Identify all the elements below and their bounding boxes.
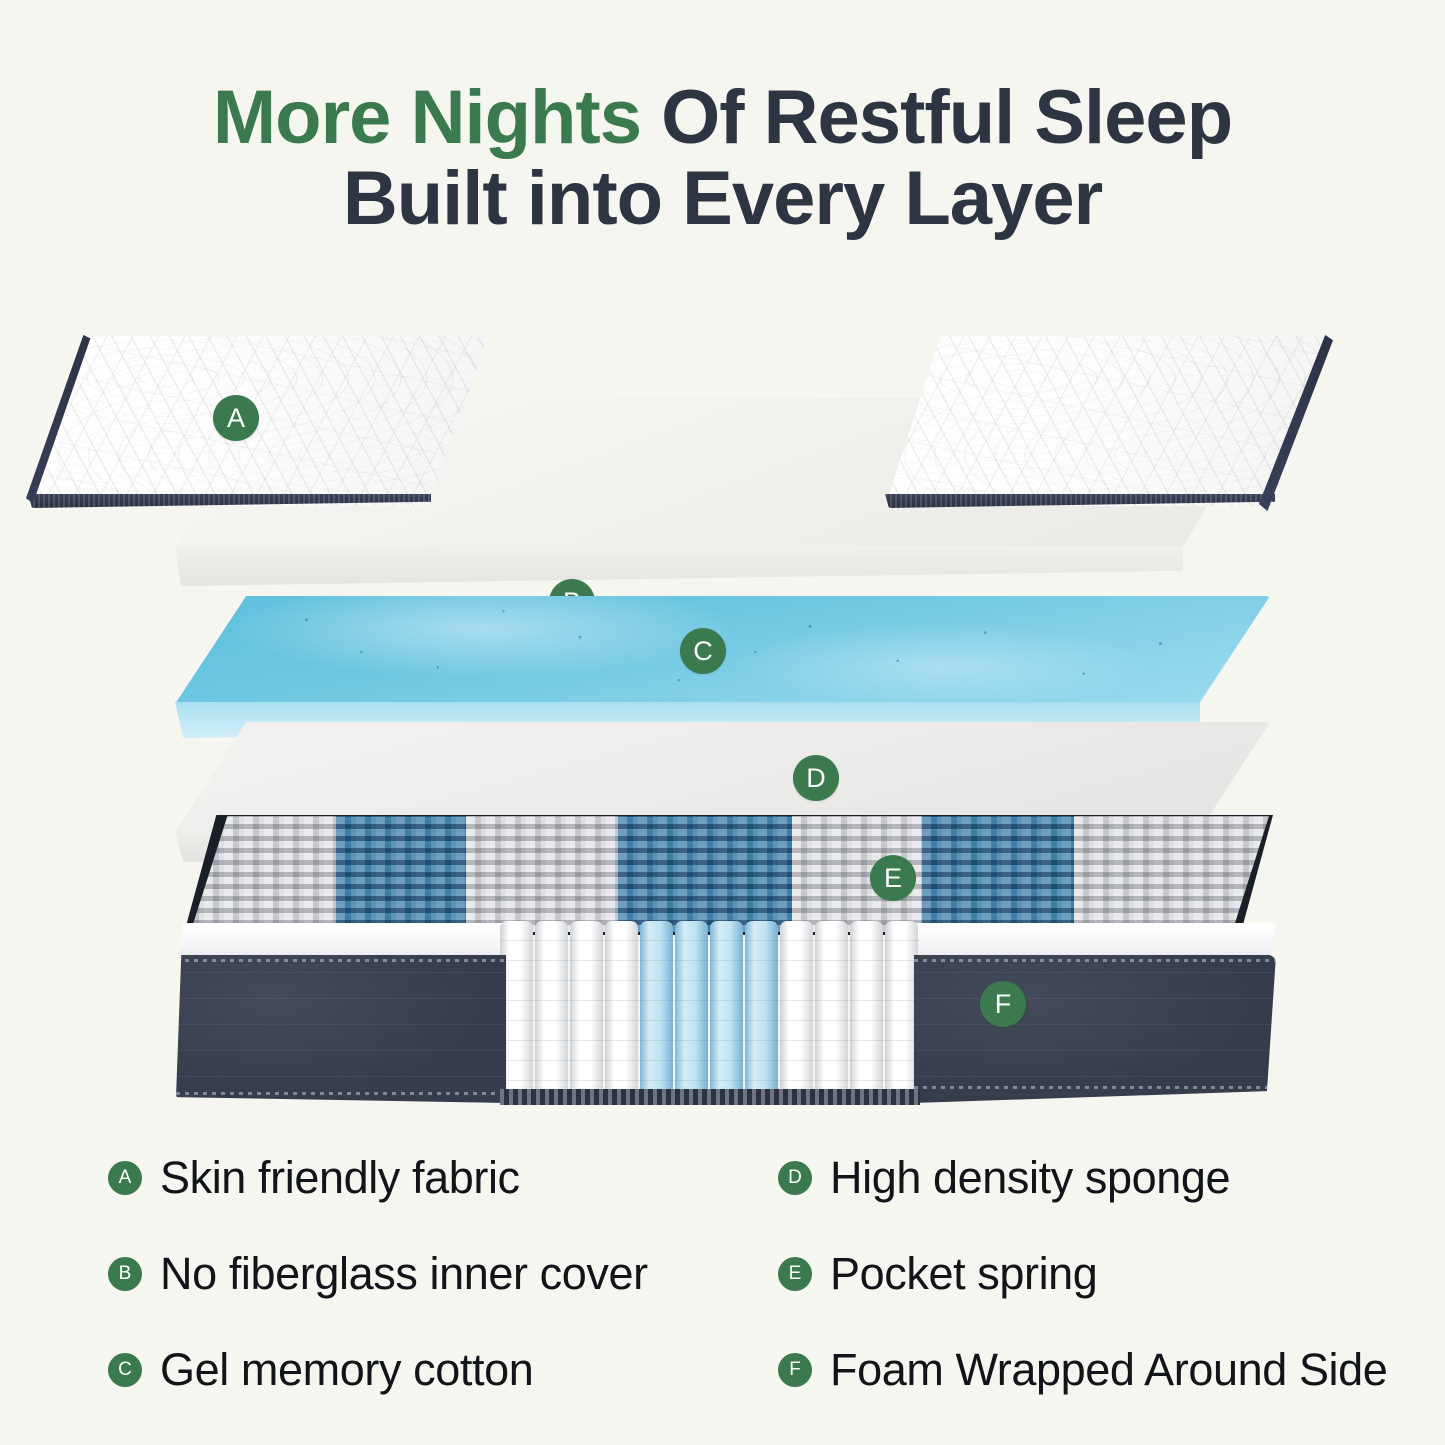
- base-stitch-bottom: [176, 1092, 506, 1095]
- title-line-1: More Nights Of Restful Sleep: [0, 78, 1445, 159]
- coil: [535, 921, 568, 1101]
- spring-zone-3: [466, 816, 618, 932]
- legend-item-c: C Gel memory cotton: [108, 1322, 648, 1418]
- legend-badge-a: A: [108, 1161, 142, 1195]
- panel-right-quilt-pattern-2: [885, 336, 1330, 506]
- legend-badge-d: D: [778, 1161, 812, 1195]
- badge-d: D: [793, 755, 839, 801]
- page-title: More Nights Of Restful Sleep Built into …: [0, 78, 1445, 239]
- legend-badge-c: C: [108, 1353, 142, 1387]
- legend-label-f: Foam Wrapped Around Side: [830, 1344, 1387, 1396]
- legend-label-a: Skin friendly fabric: [160, 1152, 520, 1204]
- mattress-layer-diagram: B A C D: [0, 318, 1445, 1108]
- base-stitch-bottom: [914, 1086, 1276, 1089]
- base-stitch-top: [176, 959, 506, 962]
- title-highlight: More Nights: [213, 75, 641, 160]
- legend-item-a: A Skin friendly fabric: [108, 1130, 648, 1226]
- layer-f-base-right: [914, 955, 1276, 1103]
- foam-rail-left: [178, 923, 513, 959]
- legend-column-left: A Skin friendly fabric B No fiberglass i…: [108, 1130, 648, 1418]
- coil: [710, 921, 743, 1101]
- coil: [570, 921, 603, 1101]
- spring-zone-4: [618, 816, 792, 932]
- coil-group-white-1: [500, 921, 640, 1101]
- spring-top-deck: [184, 816, 1269, 932]
- legend-item-d: D High density sponge: [778, 1130, 1387, 1226]
- coil: [605, 921, 638, 1101]
- legend-item-e: E Pocket spring: [778, 1226, 1387, 1322]
- base-strip-under-cutaway: [500, 1089, 920, 1105]
- foam-rail-right: [908, 923, 1276, 959]
- legend: A Skin friendly fabric B No fiberglass i…: [0, 1130, 1445, 1420]
- coil: [675, 921, 708, 1101]
- legend-item-b: B No fiberglass inner cover: [108, 1226, 648, 1322]
- coil: [815, 921, 848, 1101]
- legend-badge-b: B: [108, 1257, 142, 1291]
- badge-e: E: [870, 855, 916, 901]
- coil-group-white-2: [780, 921, 920, 1101]
- layer-e-spring-unit: E F: [170, 813, 1280, 1093]
- coil: [640, 921, 673, 1101]
- title-line-2: Built into Every Layer: [0, 159, 1445, 240]
- spring-zone-6: [922, 816, 1074, 932]
- legend-badge-f: F: [778, 1353, 812, 1387]
- title-line-1-rest: Of Restful Sleep: [641, 75, 1232, 160]
- legend-column-right: D High density sponge E Pocket spring F …: [778, 1130, 1387, 1418]
- cutaway-coil-row: [500, 921, 920, 1101]
- coil-group-blue: [640, 921, 780, 1101]
- badge-a: A: [213, 395, 259, 441]
- legend-label-c: Gel memory cotton: [160, 1344, 533, 1396]
- base-stitch-top: [914, 959, 1276, 962]
- badge-f: F: [980, 981, 1026, 1027]
- coil: [780, 921, 813, 1101]
- badge-c: C: [680, 628, 726, 674]
- coil: [745, 921, 778, 1101]
- legend-label-b: No fiberglass inner cover: [160, 1248, 648, 1300]
- legend-badge-e: E: [778, 1257, 812, 1291]
- coil: [850, 921, 883, 1101]
- legend-item-f: F Foam Wrapped Around Side: [778, 1322, 1387, 1418]
- legend-label-e: Pocket spring: [830, 1248, 1097, 1300]
- layer-f-base-left: [176, 955, 506, 1103]
- layer-a-panel-right: [885, 336, 1330, 506]
- spring-zone-2: [336, 816, 466, 932]
- legend-label-d: High density sponge: [830, 1152, 1230, 1204]
- coil: [885, 921, 918, 1101]
